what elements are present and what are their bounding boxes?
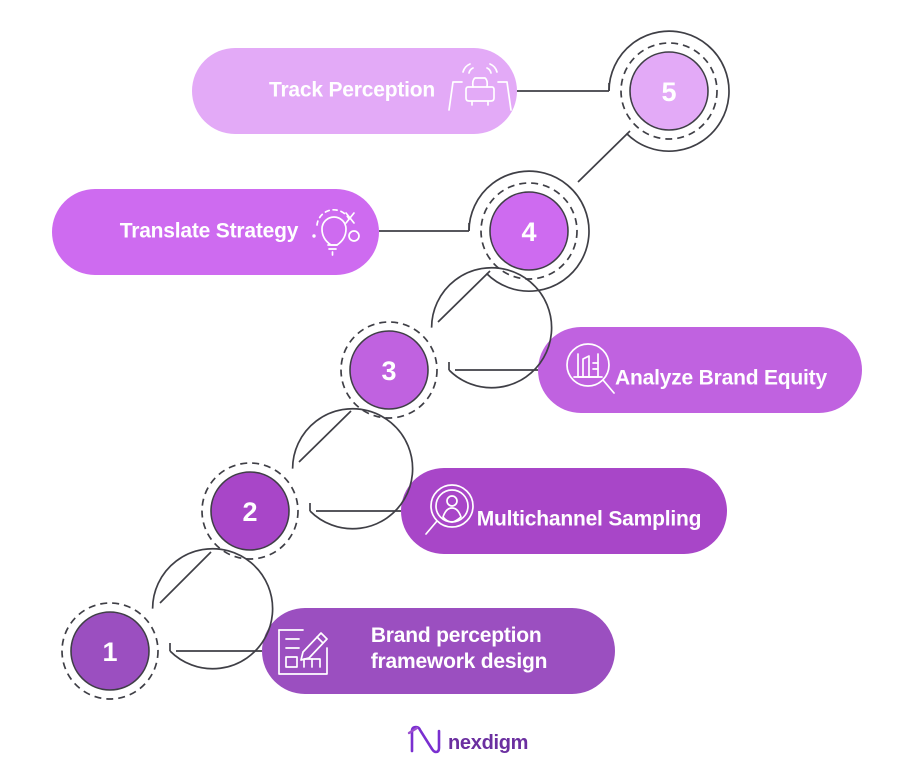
step-4-label: Translate Strategy [120, 220, 299, 243]
step-3-group[interactable]: 3 Analyze Brand Equity [341, 268, 862, 418]
nexdigm-logo-text: nexdigm [448, 732, 528, 754]
step-4-number: 4 [521, 217, 536, 247]
nexdigm-n-mark-icon [409, 727, 439, 752]
step-5-number: 5 [661, 77, 676, 107]
connector-4-to-5 [578, 131, 630, 182]
connector-3-to-4 [438, 271, 490, 322]
footer-logo: nexdigm [409, 727, 528, 754]
connector-2-to-3 [299, 411, 351, 462]
infographic-canvas: 1 Brand perception framework design [0, 0, 919, 759]
step-1-label-line-2: framework design [371, 650, 548, 673]
step-5-group[interactable]: 5 Track Perception [192, 31, 729, 151]
step-3-label: Analyze Brand Equity [615, 367, 827, 390]
connector-1-to-2 [160, 552, 211, 603]
step-1-label-line-1: Brand perception [371, 624, 542, 647]
process-diagram: 1 Brand perception framework design [0, 0, 919, 759]
step-1-number: 1 [102, 637, 117, 667]
step-2-label: Multichannel Sampling [477, 508, 701, 531]
step-1-group[interactable]: 1 Brand perception framework design [62, 549, 615, 699]
step-5-label: Track Perception [269, 79, 435, 102]
step-3-number: 3 [381, 356, 396, 386]
step-2-number: 2 [242, 497, 257, 527]
step-2-group[interactable]: 2 Multichannel Sampling [202, 409, 727, 559]
step-4-group[interactable]: 4 Translate Strategy [52, 171, 589, 291]
